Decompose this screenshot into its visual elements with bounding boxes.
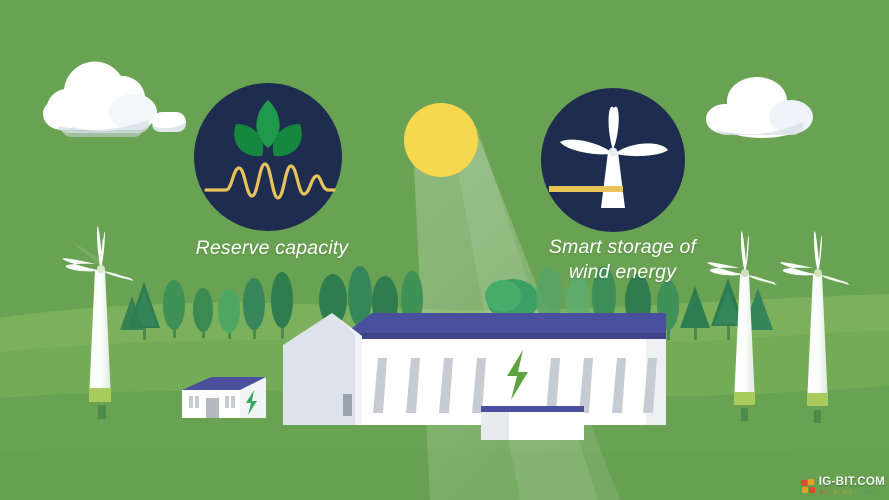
turbine-base-band	[734, 392, 755, 405]
watermark-text: IG-BIT.COM ä¼ å¯¼ä½ ç½‘	[819, 477, 885, 498]
house-window	[189, 396, 193, 408]
house-window	[195, 396, 199, 408]
watermark-subtitle: ä¼ å¯¼ä½ ç½‘	[819, 489, 885, 497]
turbine-foot	[741, 408, 748, 421]
label-smart-storage: Smart storage of wind energy	[520, 235, 725, 285]
scene-svg	[0, 0, 889, 500]
site-watermark: IG-BIT.COM ä¼ å¯¼ä½ ç½‘	[801, 477, 885, 498]
wind-turbine-badge[interactable]	[541, 88, 685, 232]
cloud-left-small	[152, 112, 186, 132]
house-door	[206, 398, 219, 418]
house-window	[231, 396, 235, 408]
house-window	[225, 396, 229, 408]
badge-gold-bar	[549, 186, 623, 192]
warehouse-door	[343, 394, 352, 416]
turbine-hub	[814, 269, 822, 277]
dock-roof	[481, 406, 584, 412]
leaf-waveform-badge[interactable]	[194, 83, 342, 231]
illustration-canvas: Reserve capacity Smart storage of wind e…	[0, 0, 889, 500]
turbine-base-band	[89, 388, 111, 402]
turbine-foot	[814, 410, 821, 423]
turbine-hub	[741, 269, 749, 277]
label-reserve-capacity: Reserve capacity	[172, 236, 372, 261]
storage-warehouse	[283, 313, 666, 425]
turbine-hub	[97, 265, 105, 273]
warehouse-roof	[344, 313, 666, 334]
turbine-foot	[98, 405, 106, 419]
loading-dock	[481, 406, 584, 440]
sun	[404, 103, 478, 177]
turbine-base-band	[807, 393, 828, 406]
watermark-domain: IG-BIT.COM	[819, 477, 885, 489]
badge-turbine-hub	[609, 148, 618, 157]
watermark-logo-icon	[801, 479, 816, 494]
